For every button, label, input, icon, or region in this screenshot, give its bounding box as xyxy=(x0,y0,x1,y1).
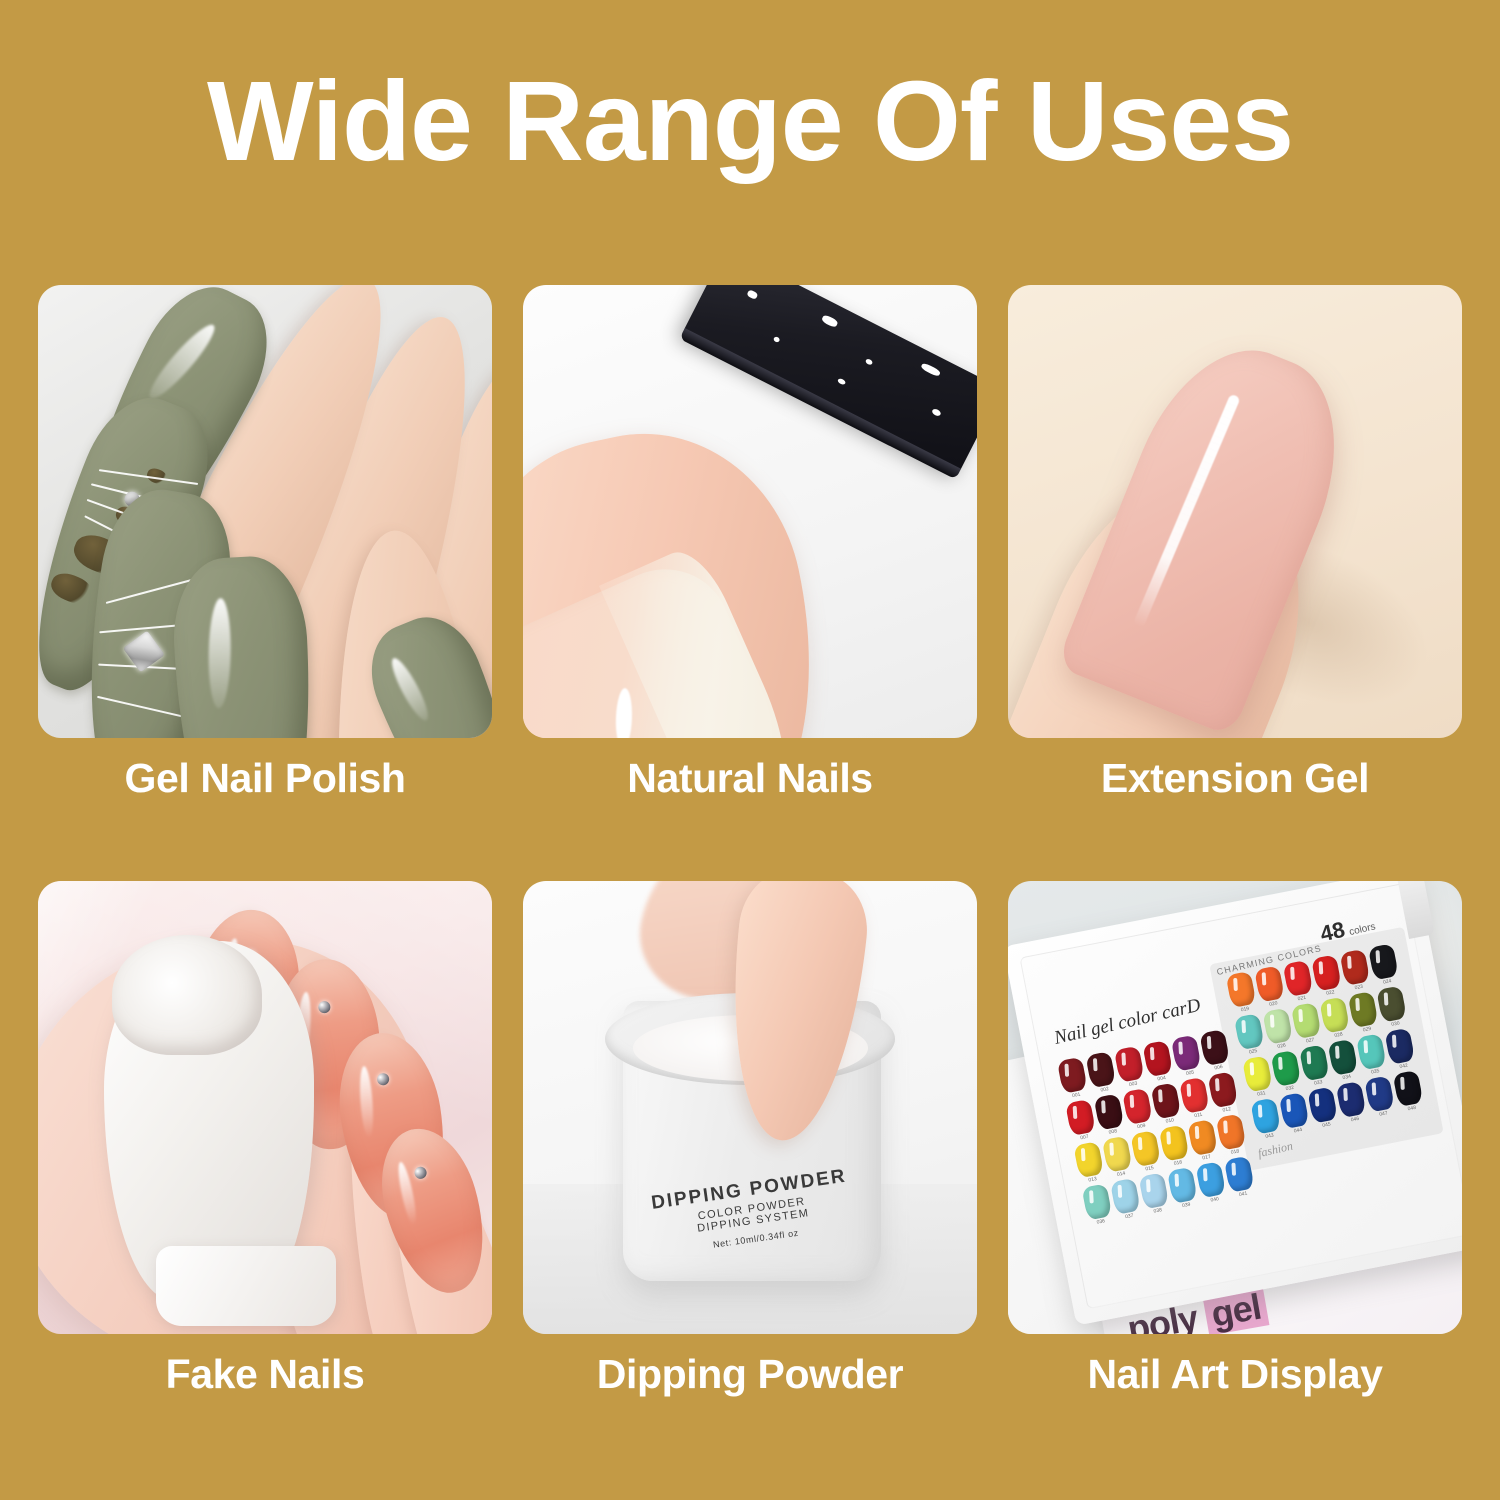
color-swatch: 047 xyxy=(1364,1075,1396,1119)
color-swatch: 003 xyxy=(1114,1046,1146,1090)
color-swatch-chip xyxy=(1142,1040,1173,1077)
color-swatch: 027 xyxy=(1291,1002,1323,1046)
color-swatch-chip xyxy=(1340,949,1371,986)
jar-label: DIPPING POWDER COLOR POWDER DIPPING SYST… xyxy=(620,1161,885,1261)
color-swatch-chip xyxy=(1368,943,1399,980)
color-swatch: 020 xyxy=(1254,965,1286,1009)
color-swatch: 005 xyxy=(1171,1035,1203,1079)
color-swatch-chip xyxy=(1138,1172,1169,1209)
color-swatch: 041 xyxy=(1224,1156,1256,1200)
polish-cap xyxy=(682,285,977,474)
color-swatch-chip xyxy=(1262,1008,1293,1045)
color-swatch: 012 xyxy=(1207,1071,1239,1115)
color-swatch-chip xyxy=(1242,1055,1273,1092)
color-swatch-chip xyxy=(1130,1130,1161,1167)
color-swatch-chip xyxy=(1393,1070,1424,1107)
caption-nail-art-display: Nail Art Display xyxy=(1008,1351,1462,1398)
color-swatch: 040 xyxy=(1195,1161,1227,1205)
color-swatch-chip xyxy=(1085,1051,1116,1088)
color-swatch: 006 xyxy=(1199,1029,1231,1073)
color-swatch-chip xyxy=(1187,1119,1218,1156)
use-cell-nail-art-display: 061062063064065 poly gel super sparkling… xyxy=(1008,881,1462,1334)
color-swatch-chip xyxy=(1364,1075,1395,1112)
color-swatch: 017 xyxy=(1187,1119,1219,1163)
page-title: Wide Range Of Uses xyxy=(0,62,1500,181)
color-swatch: 039 xyxy=(1167,1167,1199,1211)
color-swatch: 026 xyxy=(1262,1008,1294,1052)
color-swatch-chip xyxy=(1226,971,1257,1008)
natural-nail xyxy=(523,548,800,738)
color-swatch: 022 xyxy=(1311,954,1343,998)
use-cell-dipping-powder: DIPPING POWDER COLOR POWDER DIPPING SYST… xyxy=(523,881,977,1334)
color-swatch: 038 xyxy=(1138,1172,1170,1216)
color-swatch-chip xyxy=(1224,1156,1255,1193)
thumb-finger xyxy=(523,405,851,738)
color-swatch-chip xyxy=(1216,1113,1247,1150)
photo-natural-nails xyxy=(523,285,977,738)
color-swatch-chip xyxy=(1167,1167,1198,1204)
color-swatch: 021 xyxy=(1283,960,1315,1004)
color-swatch: 044 xyxy=(1279,1092,1311,1136)
color-swatch: 042 xyxy=(1384,1028,1416,1072)
color-swatch-chip xyxy=(1171,1035,1202,1072)
nail-gel-color-card: 48colors CHARMING COLORS Nail gel color … xyxy=(1008,881,1462,1326)
swatch-grid-right: 0190200210220230240250260270280290300310… xyxy=(1226,942,1433,1142)
color-swatch: 009 xyxy=(1122,1088,1154,1132)
color-swatch-chip xyxy=(1348,991,1379,1028)
color-swatch-chip xyxy=(1307,1086,1338,1123)
color-swatch: 014 xyxy=(1102,1136,1134,1180)
color-swatch-chip xyxy=(1327,1039,1358,1076)
color-swatch: 048 xyxy=(1393,1070,1425,1114)
color-swatch-chip xyxy=(1250,1098,1281,1135)
uses-grid: Gel Nail Polish Natural Nails xyxy=(38,285,1462,1334)
color-swatch: 029 xyxy=(1348,991,1380,1035)
color-swatch: 024 xyxy=(1368,943,1400,987)
color-swatch-chip xyxy=(1234,1013,1265,1050)
color-swatch: 034 xyxy=(1327,1039,1359,1083)
color-swatch-chip xyxy=(1114,1046,1145,1083)
color-swatch-chip xyxy=(1384,1028,1415,1065)
color-swatch: 015 xyxy=(1130,1130,1162,1174)
color-swatch-chip xyxy=(1065,1099,1096,1136)
nail-highlight xyxy=(615,688,633,738)
photo-dipping-powder: DIPPING POWDER COLOR POWDER DIPPING SYST… xyxy=(523,881,977,1334)
color-swatch: 030 xyxy=(1376,985,1408,1029)
color-swatch-chip xyxy=(1151,1082,1182,1119)
color-swatch-chip xyxy=(1102,1136,1133,1173)
color-swatch-chip xyxy=(1207,1071,1238,1108)
caption-gel-nail-polish: Gel Nail Polish xyxy=(38,755,492,802)
color-swatch-chip xyxy=(1110,1178,1141,1215)
caption-natural-nails: Natural Nails xyxy=(523,755,977,802)
color-swatch-chip xyxy=(1195,1161,1226,1198)
color-swatch-chip xyxy=(1376,985,1407,1022)
color-swatch: 002 xyxy=(1085,1051,1117,1095)
use-cell-gel-nail-polish: Gel Nail Polish xyxy=(38,285,492,738)
color-swatch: 018 xyxy=(1216,1113,1248,1157)
color-swatch: 004 xyxy=(1142,1040,1174,1084)
color-swatch: 008 xyxy=(1094,1093,1126,1137)
color-card-inner: 48colors CHARMING COLORS Nail gel color … xyxy=(1019,883,1462,1309)
caption-extension-gel: Extension Gel xyxy=(1008,755,1462,802)
color-swatch-chip xyxy=(1159,1124,1190,1161)
color-swatch: 028 xyxy=(1319,997,1351,1041)
nail-highlight xyxy=(1133,394,1241,628)
color-swatch-chip xyxy=(1057,1057,1088,1094)
color-swatch: 036 xyxy=(1082,1183,1114,1227)
color-swatch: 045 xyxy=(1307,1086,1339,1130)
color-swatch: 035 xyxy=(1356,1033,1388,1077)
use-cell-fake-nails: Fake Nails xyxy=(38,881,492,1334)
photo-extension-gel xyxy=(1008,285,1462,738)
caption-dipping-powder: Dipping Powder xyxy=(523,1351,977,1398)
use-cell-natural-nails: Natural Nails xyxy=(523,285,977,738)
color-swatch: 033 xyxy=(1299,1044,1331,1088)
color-swatch: 046 xyxy=(1336,1081,1368,1125)
color-swatch: 001 xyxy=(1057,1057,1089,1101)
photo-gel-nail-polish xyxy=(38,285,492,738)
use-cell-extension-gel: Extension Gel xyxy=(1008,285,1462,738)
caption-fake-nails: Fake Nails xyxy=(38,1351,492,1398)
color-swatch-chip xyxy=(1199,1029,1230,1066)
color-swatch-chip xyxy=(1271,1050,1302,1087)
color-swatch: 037 xyxy=(1110,1178,1142,1222)
color-swatch-chip xyxy=(1254,965,1285,1002)
color-swatch-chip xyxy=(1283,960,1314,997)
color-swatch-chip xyxy=(1336,1081,1367,1118)
color-swatch-chip xyxy=(1319,997,1350,1034)
statue-base xyxy=(156,1246,336,1326)
color-swatch-chip xyxy=(1122,1088,1153,1125)
color-swatch: 032 xyxy=(1271,1050,1303,1094)
color-swatch: 007 xyxy=(1065,1099,1097,1143)
swatch-grid-left: 0010020030040050060070080090100110120130… xyxy=(1057,1028,1262,1227)
color-swatch: 016 xyxy=(1159,1124,1191,1168)
color-swatch-chip xyxy=(1094,1093,1125,1130)
color-swatch-chip xyxy=(1279,1092,1310,1129)
color-swatch: 010 xyxy=(1151,1082,1183,1126)
color-swatch-chip xyxy=(1082,1183,1113,1220)
photo-fake-nails xyxy=(38,881,492,1334)
color-swatch-chip xyxy=(1299,1044,1330,1081)
color-swatch-chip xyxy=(1311,954,1342,991)
color-swatch: 013 xyxy=(1073,1141,1105,1185)
color-swatch-chip xyxy=(1179,1077,1210,1114)
hand-illustration xyxy=(38,285,492,738)
color-swatch-chip xyxy=(1291,1002,1322,1039)
color-swatch: 011 xyxy=(1179,1077,1211,1121)
color-swatch-chip xyxy=(1356,1033,1387,1070)
photo-nail-art-display: 061062063064065 poly gel super sparkling… xyxy=(1008,881,1462,1334)
color-swatch-chip xyxy=(1073,1141,1104,1178)
color-swatch: 023 xyxy=(1340,949,1372,993)
